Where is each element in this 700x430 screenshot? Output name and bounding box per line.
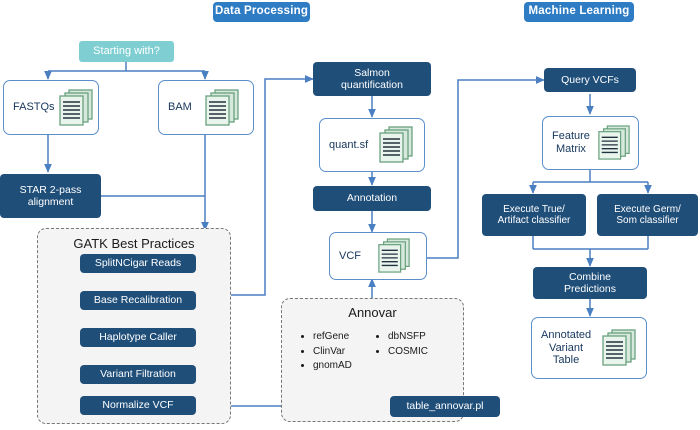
germ-som-line-1: Execute Germ/ xyxy=(614,204,681,216)
feature-matrix-line-1: Feature xyxy=(552,130,590,143)
star-line-1: STAR 2-pass xyxy=(20,184,82,196)
data-vcf-label: VCF xyxy=(330,250,361,263)
process-true-artifact-classifier[interactable]: Execute True/ Artifact classifier xyxy=(482,194,586,236)
annovar-group-title: Annovar xyxy=(282,305,463,320)
star-line-2: alignment xyxy=(28,196,74,208)
flowchart-canvas: GATK Best Practices Annovar Data Process… xyxy=(0,0,700,430)
process-base-recalibration[interactable]: Base Recalibration xyxy=(80,291,196,310)
annotated-table-line-1: Annotated xyxy=(541,329,591,342)
process-salmon-quantification[interactable]: Salmon quantification xyxy=(313,62,431,96)
data-vcf[interactable]: VCF xyxy=(329,232,427,280)
data-bam[interactable]: BAM xyxy=(158,80,254,135)
document-stack-icon xyxy=(591,327,646,369)
process-germ-som-classifier[interactable]: Execute Germ/ Som classifier xyxy=(597,194,698,236)
process-normalize-vcf[interactable]: Normalize VCF xyxy=(80,396,196,415)
decision-starting-with[interactable]: Starting with? xyxy=(79,41,174,62)
process-star-alignment[interactable]: STAR 2-pass alignment xyxy=(0,174,101,218)
feature-matrix-line-2: Matrix xyxy=(552,143,590,156)
salmon-line-1: Salmon xyxy=(354,67,390,79)
process-query-vcfs[interactable]: Query VCFs xyxy=(544,68,636,92)
process-combine-predictions[interactable]: Combine Predictions xyxy=(533,267,647,299)
germ-som-line-2: Som classifier xyxy=(616,215,678,227)
annovar-db-clinvar: ClinVar xyxy=(313,346,370,359)
data-bam-label: BAM xyxy=(159,101,192,114)
annovar-db-gnomad: gnomAD xyxy=(313,360,370,373)
document-stack-icon xyxy=(361,237,426,275)
document-stack-icon xyxy=(55,88,98,128)
data-feature-matrix[interactable]: Feature Matrix xyxy=(542,116,639,170)
annovar-db-refgene: refGene xyxy=(313,331,370,344)
salmon-line-2: quantification xyxy=(341,79,403,91)
data-quant-sf-label: quant.sf xyxy=(320,139,368,152)
document-stack-icon xyxy=(368,125,424,165)
banner-machine-learning: Machine Learning xyxy=(524,2,634,22)
combine-line-1: Combine xyxy=(569,271,611,283)
document-stack-icon xyxy=(590,124,638,162)
document-stack-icon xyxy=(192,88,253,128)
annovar-db-dbnsfp: dbNSFP xyxy=(388,331,450,344)
data-fastqs[interactable]: FASTQs xyxy=(3,80,99,135)
process-variant-filtration[interactable]: Variant Filtration xyxy=(80,365,196,384)
annovar-databases-left: refGene ClinVar gnomAD xyxy=(300,331,370,375)
process-annotation[interactable]: Annotation xyxy=(313,186,431,211)
annotated-table-line-2: Variant xyxy=(541,342,591,355)
data-annotated-variant-table-label: Annotated Variant Table xyxy=(532,329,591,367)
data-feature-matrix-label: Feature Matrix xyxy=(543,130,590,155)
process-haplotype-caller[interactable]: Haplotype Caller xyxy=(80,328,196,347)
combine-line-2: Predictions xyxy=(564,283,616,295)
process-table-annovar-script[interactable]: table_annovar.pl xyxy=(390,396,500,417)
annotated-table-line-3: Table xyxy=(541,354,591,367)
true-artifact-line-1: Execute True/ xyxy=(503,204,565,216)
data-quant-sf[interactable]: quant.sf xyxy=(319,118,425,172)
data-fastqs-label: FASTQs xyxy=(4,101,55,114)
annovar-db-cosmic: COSMIC xyxy=(388,346,450,359)
true-artifact-line-2: Artifact classifier xyxy=(498,215,571,227)
banner-data-processing: Data Processing xyxy=(213,2,310,22)
process-splitncigar-reads[interactable]: SplitNCigar Reads xyxy=(80,254,196,273)
gatk-group-title: GATK Best Practices xyxy=(38,236,230,251)
annovar-databases-right: dbNSFP COSMIC xyxy=(375,331,450,360)
data-annotated-variant-table[interactable]: Annotated Variant Table xyxy=(531,317,647,379)
